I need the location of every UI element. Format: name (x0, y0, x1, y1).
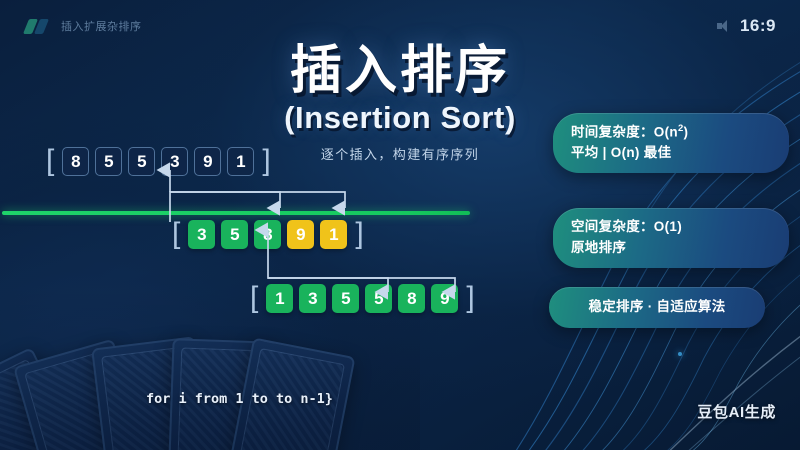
card-back (13, 339, 155, 450)
top-bar: 插入扩展杂排序 16:9 (0, 0, 800, 48)
logo-slashes-icon (26, 19, 52, 34)
input-array: [ 8 5 5 3 9 1 ] (44, 146, 273, 176)
array-cell: 1 (227, 147, 254, 176)
badge-time-complexity: 时间复杂度：O(n2) 平均 | O(n) 最佳 (553, 113, 789, 173)
array-cell: 5 (95, 147, 122, 176)
bracket-open: [ (46, 146, 54, 176)
watermark: 豆包AI生成 (697, 401, 776, 422)
bracket-open: [ (250, 283, 258, 313)
badge-line-2: 原地排序 (571, 238, 771, 259)
array-cell: 9 (287, 220, 314, 249)
accent-dot (678, 352, 682, 356)
array-cell: 8 (62, 147, 89, 176)
array-cell: 8 (398, 284, 425, 313)
code-block: for i from 1 to to n-1} for i ≡r from 1 … (146, 348, 476, 450)
bracket-close: ] (355, 219, 363, 249)
array-cell: 1 (266, 284, 293, 313)
badge-line-1: 空间复杂度：O(1) (571, 217, 771, 238)
card-back (0, 347, 98, 450)
array-cell: 5 (332, 284, 359, 313)
badge-stability: 稳定排序 · 自适应算法 (549, 287, 765, 328)
brand-label: 插入扩展杂排序 (61, 18, 142, 34)
page-title-cn: 插入排序 (0, 44, 800, 99)
badge-space-complexity: 空间复杂度：O(1) 原地排序 (553, 208, 789, 268)
badge-line-1: 稳定排序 · 自适应算法 (567, 297, 747, 318)
array-cell: 9 (194, 147, 221, 176)
badge-line-1: 时间复杂度：O(n2) (571, 122, 771, 143)
array-cell: 5 (128, 147, 155, 176)
bracket-open: [ (172, 219, 180, 249)
brand: 插入扩展杂排序 (26, 18, 142, 34)
array-cell: 5 (221, 220, 248, 249)
array-cell: 3 (161, 147, 188, 176)
array-cell: 8 (254, 220, 281, 249)
array-cell: 9 (431, 284, 458, 313)
partial-sorted-array: [ 3 5 8 9 1 ] (170, 219, 366, 249)
speaker-icon (717, 20, 731, 32)
code-line: for i from 1 to to n-1} (146, 389, 476, 410)
array-cell: 3 (188, 220, 215, 249)
badge-line-2: 平均 | O(n) 最佳 (571, 143, 771, 164)
array-cell: 1 (320, 220, 347, 249)
aspect-ratio-label: 16:9 (740, 16, 776, 36)
bracket-close: ] (466, 283, 474, 313)
array-cell: 5 (365, 284, 392, 313)
slide-canvas: 插入扩展杂排序 16:9 插入排序 (Insertion Sort) 逐个插入，… (0, 0, 800, 450)
bracket-close: ] (262, 146, 270, 176)
green-divider-line (2, 211, 470, 215)
sorted-array: [ 1 3 5 5 8 9 ] (248, 283, 477, 313)
array-cell: 3 (299, 284, 326, 313)
top-right-status: 16:9 (717, 16, 776, 36)
